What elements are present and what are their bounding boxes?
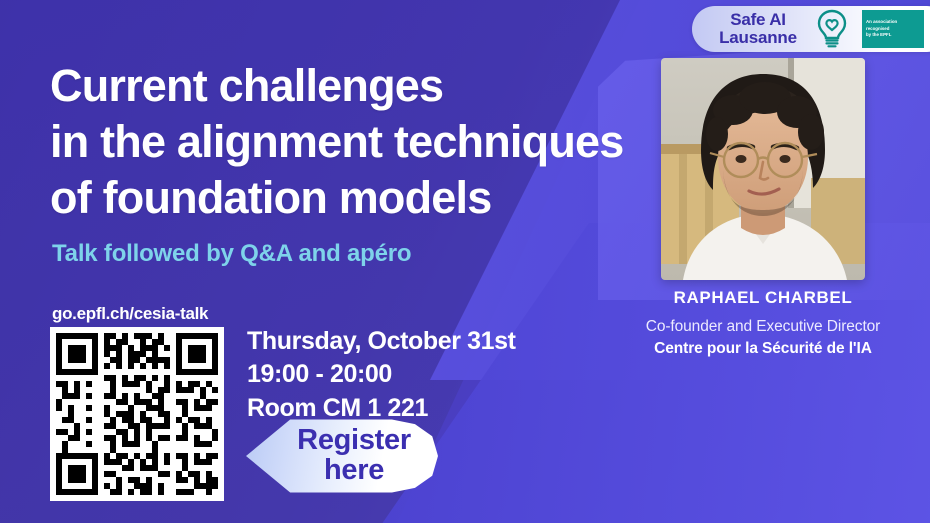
event-details: Thursday, October 31st 19:00 - 20:00 Roo… — [247, 325, 516, 425]
epfl-recognition-text: An association recognised by the EPFL — [862, 19, 924, 39]
register-button[interactable]: Register here — [246, 418, 438, 494]
registration-url-label: go.epfl.ch/cesia-talk — [52, 304, 208, 324]
qr-code-icon[interactable] — [50, 327, 224, 501]
badge-org-name: Safe AI Lausanne — [710, 11, 806, 46]
epfl-recognition-stamp: An association recognised by the EPFL — [862, 10, 924, 48]
speaker-name: RAPHAEL CHARBEL — [600, 288, 926, 308]
event-poster: Safe AI Lausanne An association recognis… — [0, 0, 930, 523]
speaker-portrait-photo — [661, 58, 865, 280]
speaker-role: Co-founder and Executive Director — [600, 318, 926, 336]
page-title: Current challenges in the alignment tech… — [50, 58, 630, 225]
lightbulb-heart-icon — [812, 8, 852, 50]
page-subtitle: Talk followed by Q&A and apéro — [52, 240, 411, 268]
safe-ai-lausanne-badge: Safe AI Lausanne An association recognis… — [692, 6, 930, 52]
register-button-label: Register here — [273, 426, 411, 485]
speaker-organisation: Centre pour la Sécurité de l'IA — [600, 340, 926, 358]
